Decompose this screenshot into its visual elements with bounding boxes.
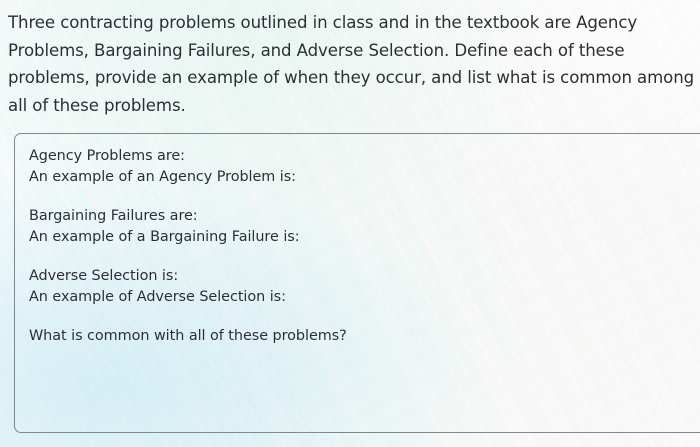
- answer-line-agency-definition: Agency Problems are:: [29, 146, 589, 167]
- answer-line-common-question: What is common with all of these problem…: [29, 326, 589, 347]
- content-layer: Three contracting problems outlined in c…: [0, 0, 700, 447]
- answer-line-bargaining-definition: Bargaining Failures are:: [29, 206, 589, 227]
- answer-group-adverse-selection: Adverse Selection is: An example of Adve…: [29, 266, 589, 307]
- answer-line-adverse-selection-definition: Adverse Selection is:: [29, 266, 589, 287]
- answer-box-content[interactable]: Agency Problems are: An example of an Ag…: [29, 146, 589, 347]
- answer-group-bargaining: Bargaining Failures are: An example of a…: [29, 206, 589, 247]
- screenshot-root: Three contracting problems outlined in c…: [0, 0, 700, 447]
- answer-group-agency: Agency Problems are: An example of an Ag…: [29, 146, 589, 187]
- answer-line-bargaining-example: An example of a Bargaining Failure is:: [29, 227, 589, 248]
- answer-group-common: What is common with all of these problem…: [29, 326, 589, 347]
- question-prompt-text: Three contracting problems outlined in c…: [8, 9, 698, 119]
- answer-line-agency-example: An example of an Agency Problem is:: [29, 167, 589, 188]
- answer-line-adverse-selection-example: An example of Adverse Selection is:: [29, 287, 589, 308]
